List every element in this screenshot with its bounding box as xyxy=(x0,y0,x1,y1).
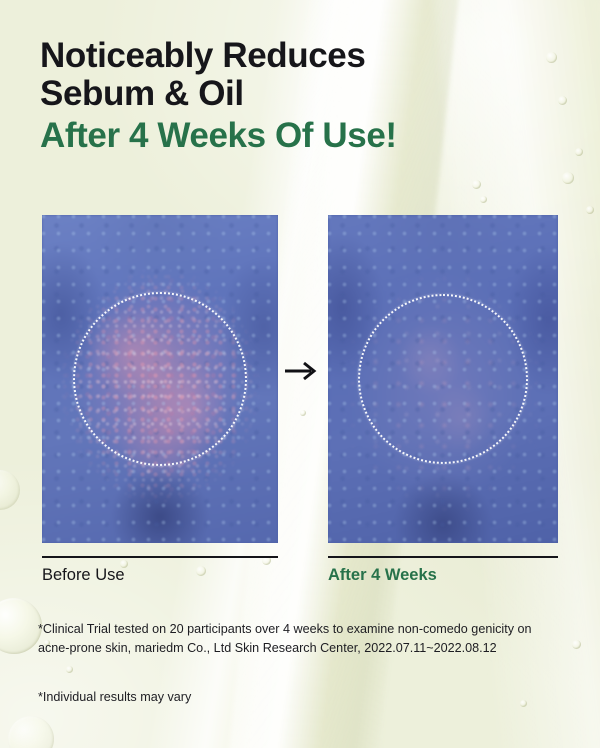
bubble-decoration xyxy=(586,206,594,214)
panel-after xyxy=(328,215,558,543)
bubble-decoration xyxy=(572,640,581,649)
bubble-decoration xyxy=(0,470,20,510)
headline-line-3: After 4 Weeks Of Use! xyxy=(40,118,470,154)
page-title: Noticeably Reduces Sebum & Oil After 4 W… xyxy=(40,38,470,156)
bubble-decoration xyxy=(558,96,567,105)
arrow-right-icon xyxy=(283,357,319,385)
caption-after: After 4 Weeks xyxy=(328,566,437,585)
bubble-decoration xyxy=(300,410,306,416)
footnote-disclaimer: *Individual results may vary xyxy=(38,688,562,707)
highlight-circle-icon xyxy=(358,294,528,464)
bubble-decoration xyxy=(196,566,206,576)
divider-after xyxy=(328,556,558,558)
bubble-decoration xyxy=(546,52,557,63)
bubble-decoration xyxy=(562,172,574,184)
bubble-decoration xyxy=(66,666,73,673)
footnote-clinical-trial: *Clinical Trial tested on 20 participant… xyxy=(38,620,562,658)
bubble-decoration xyxy=(472,180,481,189)
infographic-page: Noticeably Reduces Sebum & Oil After 4 W… xyxy=(0,0,600,748)
highlight-circle-icon xyxy=(73,292,247,466)
divider-before xyxy=(42,556,278,558)
skin-photo-after xyxy=(328,215,558,543)
panel-before xyxy=(42,215,278,543)
skin-photo-before xyxy=(42,215,278,543)
headline-line-1: Noticeably Reduces xyxy=(40,38,470,74)
bubble-decoration xyxy=(0,598,42,654)
bubble-decoration xyxy=(8,716,54,748)
bubble-decoration xyxy=(575,148,583,156)
bubble-decoration xyxy=(480,196,487,203)
headline-line-2: Sebum & Oil xyxy=(40,76,470,112)
caption-before: Before Use xyxy=(42,566,125,585)
